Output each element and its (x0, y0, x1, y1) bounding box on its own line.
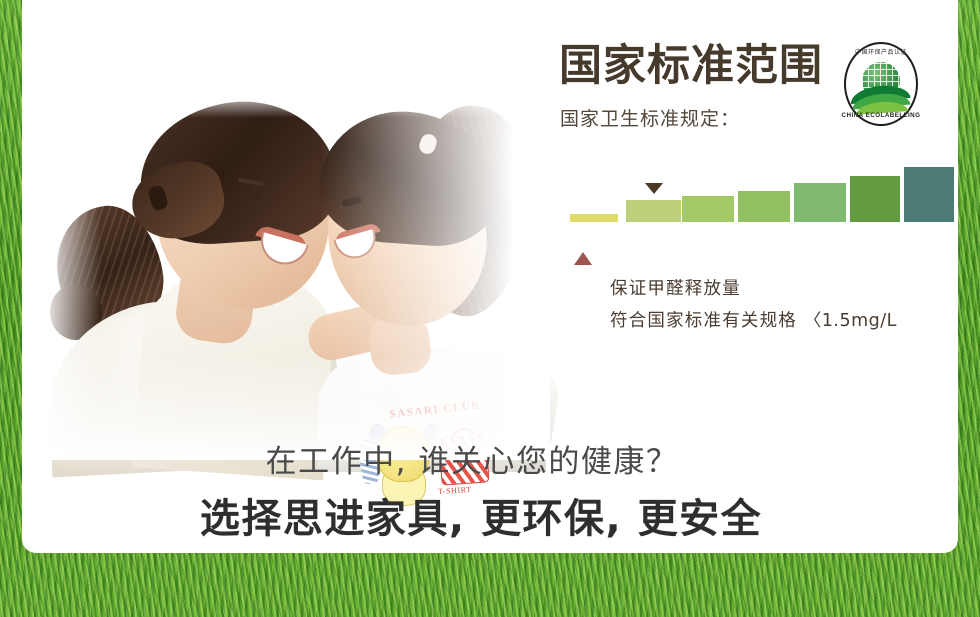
content-card: SASARI CLUB T-SHIRT 国家标准范围 国家卫生标准规定： 中国环… (22, 0, 958, 553)
china-ecolabel-seal: 中国环保产品认证 CHINA ECOLABELLING (840, 42, 922, 130)
bar-3 (682, 196, 734, 222)
bar-5 (794, 183, 846, 222)
bar-4 (738, 191, 790, 222)
seal-top-text: 中国环保产品认证 (846, 47, 916, 56)
bar-1 (570, 214, 618, 222)
seal-bottom-text: CHINA ECOLABELLING (840, 112, 922, 119)
page-subtitle: 国家卫生标准规定： (560, 104, 740, 131)
standard-range-bar-chart (570, 160, 948, 222)
compliance-note: 保证甲醛释放量 符合国家标准有关规格 〈1.5mg/L (610, 273, 897, 338)
note-unit: 〈1.5mg/L (804, 311, 897, 331)
tagline-brand: 选择思进家具, 更环保, 更安全 (22, 486, 958, 544)
note-line-2-text: 符合国家标准有关规格 (610, 311, 797, 331)
bar-7 (904, 167, 954, 222)
note-line-2: 符合国家标准有关规格 〈1.5mg/L (610, 305, 897, 337)
note-line-1: 保证甲醛释放量 (610, 273, 897, 305)
family-photo: SASARI CLUB T-SHIRT (40, 88, 550, 460)
page-title: 国家标准范围 (559, 44, 823, 89)
tagline-question: 在工作中, 谁关心您的健康？ (22, 436, 958, 481)
standard-marker-icon (645, 183, 663, 194)
bar-2 (626, 200, 681, 222)
bar-6 (850, 176, 900, 222)
product-marker-icon (574, 252, 592, 265)
